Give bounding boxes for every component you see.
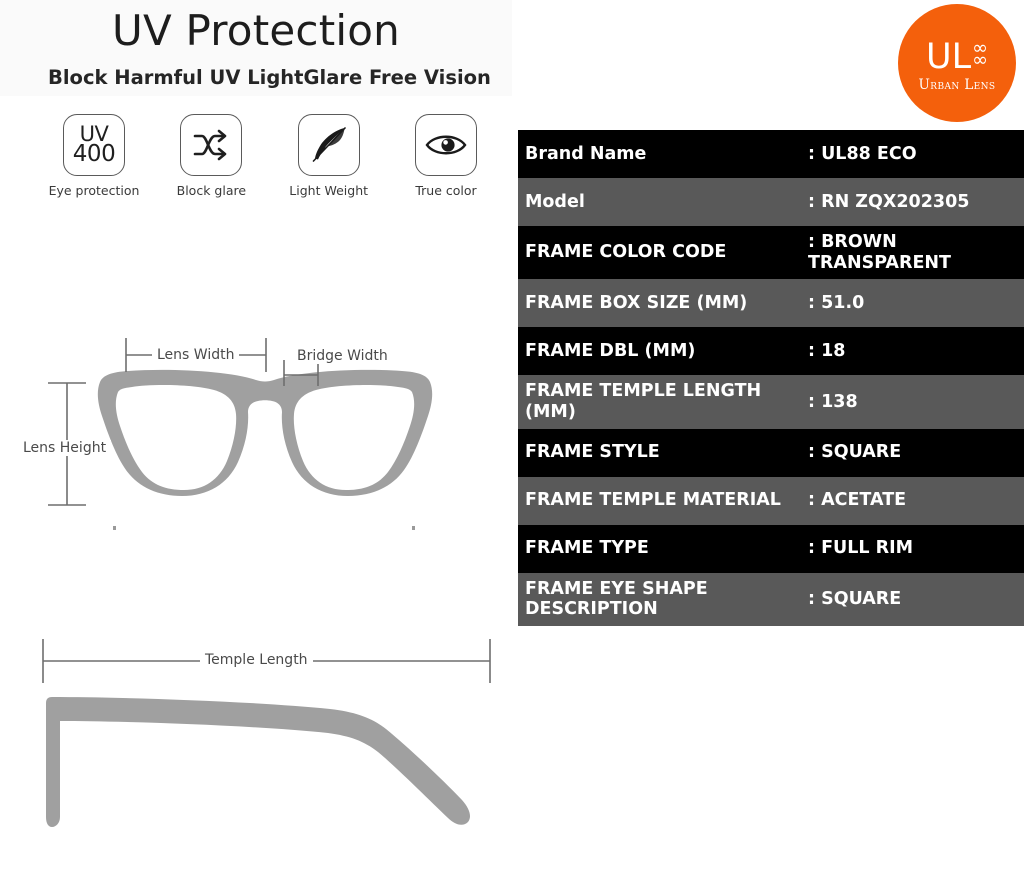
spec-label: FRAME COLOR CODE — [518, 242, 808, 263]
specification-table: Brand Name : UL88 ECO Model : RN ZQX2023… — [518, 130, 1024, 626]
lens-height-label: Lens Height — [18, 440, 111, 456]
table-row: FRAME TEMPLE LENGTH (MM) : 138 — [518, 375, 1024, 428]
spec-label: FRAME DBL (MM) — [518, 341, 808, 362]
shuffle-arrows-icon — [180, 114, 242, 176]
spec-label: FRAME TEMPLE LENGTH (MM) — [518, 381, 808, 422]
spec-value: : FULL RIM — [808, 538, 1024, 559]
frame-front-diagram — [0, 330, 512, 545]
logo-initials: UL — [926, 40, 971, 75]
spec-value: : ACETATE — [808, 490, 1024, 511]
uv400-line2: 400 — [73, 144, 115, 165]
lens-width-label: Lens Width — [152, 347, 239, 363]
spec-value: : 18 — [808, 341, 1024, 362]
spec-label: FRAME BOX SIZE (MM) — [518, 293, 808, 314]
table-row: Model : RN ZQX202305 — [518, 178, 1024, 226]
uv400-icon: UV 400 — [63, 114, 125, 176]
spec-value: : BROWN TRANSPARENT — [808, 232, 1024, 273]
table-row: FRAME STYLE : SQUARE — [518, 429, 1024, 477]
temple-arm-shape — [46, 697, 470, 827]
feature-caption: Block glare — [177, 183, 246, 198]
spec-label: FRAME TYPE — [518, 538, 808, 559]
bridge-width-label: Bridge Width — [292, 348, 393, 364]
feather-icon — [298, 114, 360, 176]
spec-value: : RN ZQX202305 — [808, 192, 1024, 213]
feature-light-weight: Light Weight — [281, 114, 377, 198]
table-row: FRAME DBL (MM) : 18 — [518, 327, 1024, 375]
spec-label: Brand Name — [518, 144, 808, 165]
spec-value: : SQUARE — [808, 442, 1024, 463]
table-row: FRAME COLOR CODE : BROWN TRANSPARENT — [518, 226, 1024, 279]
logo-mark: UL ∞ ∞ — [926, 40, 988, 75]
logo-brand-name: Urban Lens — [918, 77, 995, 93]
spec-label: Model — [518, 192, 808, 213]
eye-icon — [415, 114, 477, 176]
spec-label: FRAME EYE SHAPE DESCRIPTION — [518, 579, 808, 620]
table-row: FRAME EYE SHAPE DESCRIPTION : SQUARE — [518, 573, 1024, 626]
uv-protection-banner: UV Protection Block Harmful UV Light Gla… — [0, 0, 512, 210]
feature-caption: Eye protection — [49, 183, 140, 198]
infinity-bottom: ∞ — [972, 55, 988, 67]
table-row: FRAME BOX SIZE (MM) : 51.0 — [518, 279, 1024, 327]
spec-value: : UL88 ECO — [808, 144, 1024, 165]
table-row: FRAME TYPE : FULL RIM — [518, 525, 1024, 573]
spec-label: FRAME TEMPLE MATERIAL — [518, 490, 808, 511]
feature-true-color: True color — [398, 114, 494, 198]
eyeglass-frame-shape — [98, 370, 432, 496]
feature-block-glare: Block glare — [163, 114, 259, 198]
temple-length-label: Temple Length — [200, 652, 313, 668]
feature-eye-protection: UV 400 Eye protection — [46, 114, 142, 198]
spec-label: FRAME STYLE — [518, 442, 808, 463]
banner-subtitle-left: Block Harmful UV Light — [48, 66, 304, 89]
baseline-ticks — [113, 526, 415, 530]
feature-icon-row: UV 400 Eye protection Block glare — [46, 114, 494, 198]
banner-title: UV Protection — [0, 6, 512, 55]
spec-value: : 138 — [808, 392, 1024, 413]
banner-subtitle-right: Glare Free Vision — [304, 66, 491, 89]
spec-value: : 51.0 — [808, 293, 1024, 314]
table-row: FRAME TEMPLE MATERIAL : ACETATE — [518, 477, 1024, 525]
urban-lens-logo: UL ∞ ∞ Urban Lens — [898, 4, 1016, 122]
spec-value: : SQUARE — [808, 589, 1024, 610]
feature-caption: True color — [415, 183, 476, 198]
infinity-icon: ∞ ∞ — [972, 43, 988, 67]
table-row: Brand Name : UL88 ECO — [518, 130, 1024, 178]
feature-caption: Light Weight — [289, 183, 368, 198]
banner-subtitles: Block Harmful UV Light Glare Free Vision — [48, 66, 488, 89]
